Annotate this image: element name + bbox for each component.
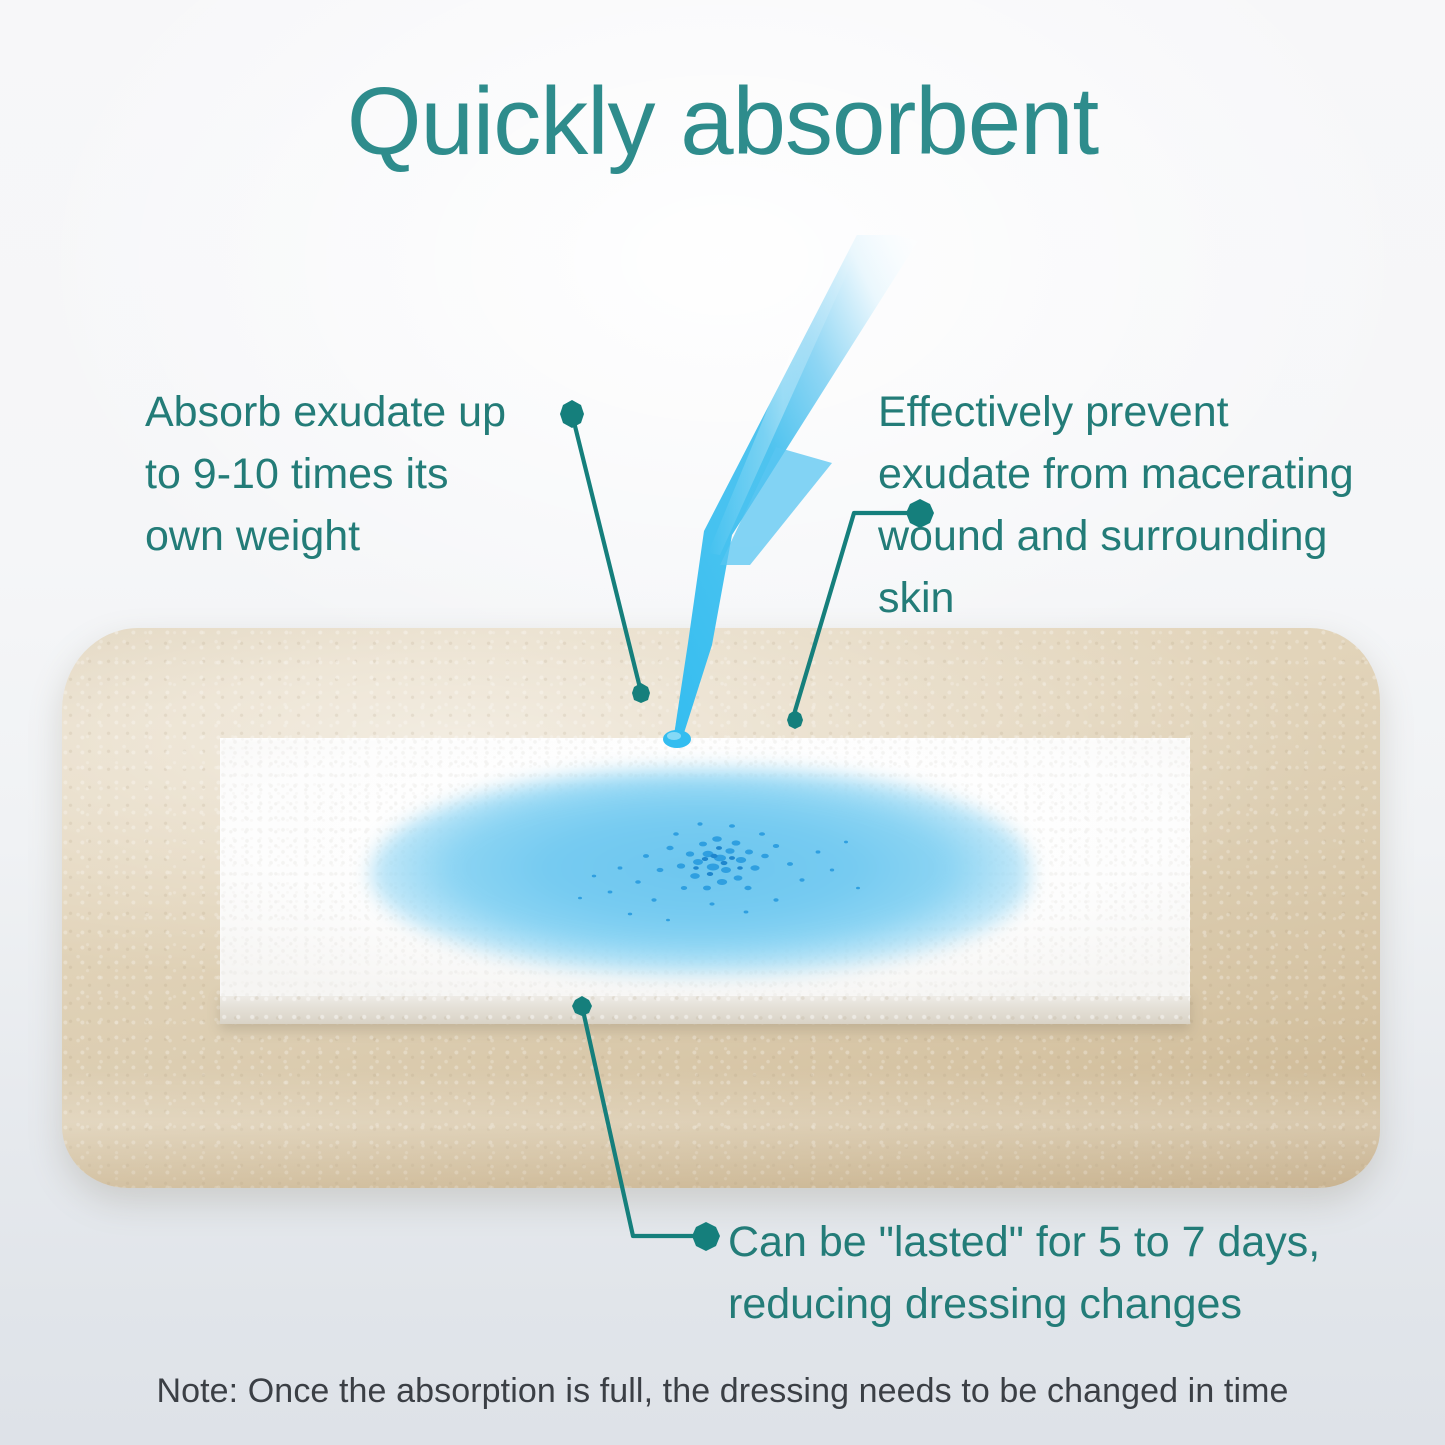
absorbent-foam-pad [220, 738, 1190, 1020]
callout-absorb-capacity: Absorb exudate up to 9-10 times its own … [145, 382, 575, 568]
foam-pad-surface [220, 738, 1190, 996]
infographic-canvas: Quickly absorbent Absorb exudate up to 9… [0, 0, 1445, 1445]
page-title: Quickly absorbent [0, 72, 1445, 173]
footer-note: Note: Once the absorption is full, the d… [0, 1372, 1445, 1411]
wound-dressing [62, 628, 1380, 1188]
callout-maceration-prevention: Effectively prevent exudate from macerat… [878, 382, 1438, 630]
absorbed-exudate-blot [370, 768, 1030, 976]
leader-dot-bottom-text [692, 1222, 720, 1251]
callout-wear-time: Can be "lasted" for 5 to 7 days, reducin… [728, 1212, 1368, 1336]
